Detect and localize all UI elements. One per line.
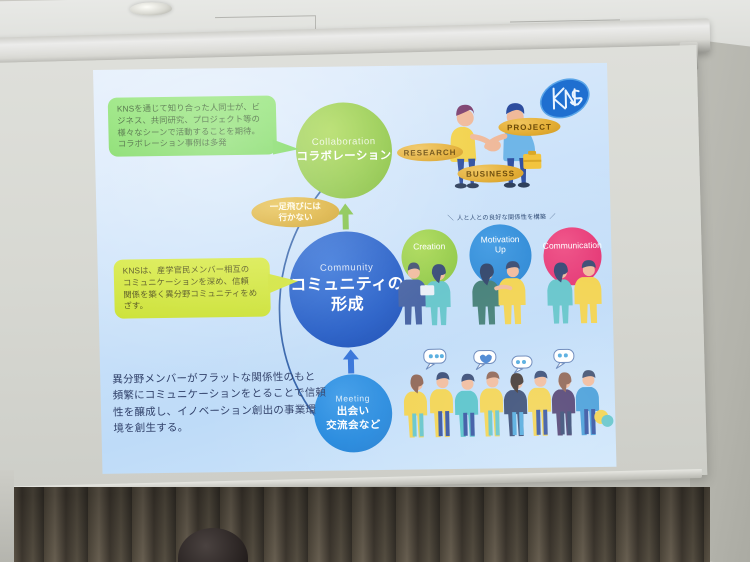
callout-collaboration-line4: コラボレーション事例は多発 [118,137,269,151]
relationship-caption-text: 人と人との良好な関係性を構築 [457,214,547,222]
room-photo-scene: Collaboration コラボレーション Community コミュニティの… [0,0,750,562]
node-community-jp-line1: コミュニティの [290,275,404,297]
node-community-jp-line2: 形成 [331,296,364,316]
caption-slash-left: ＼ [444,215,457,222]
curtain-shadow [0,487,710,562]
node-meeting-en: Meeting [335,394,370,404]
wall-left-strip [0,470,14,562]
presentation-slide: Collaboration コラボレーション Community コミュニティの… [93,63,616,474]
tag-line2: 行かない [278,212,312,223]
illustration-three-benefits: Creation MotivationUp Communication [397,221,610,336]
node-collaboration-en: Collaboration [312,137,376,149]
bottom-description-line4: 境を創生する。 [113,417,331,436]
callout-community-line4: ざす。 [123,299,262,313]
ceiling-light-icon [130,2,172,16]
illustration-handshake: RESEARCH PROJECT BUSINESS [394,85,596,194]
node-meeting-jp-line1: 出会い [337,405,370,419]
callout-community-line3: 関係を築く異分野コミュニティをめ [123,287,262,301]
node-collaboration-jp: コラボレーション [296,150,391,164]
node-meeting-jp-line2: 交流会など [326,419,381,433]
projected-slide-warp: Collaboration コラボレーション Community コミュニティの… [93,63,616,474]
callout-collaboration: KNSを通じて知り合った人同士が、ビ ジネス、共同研究、プロジェクト等の 様々な… [108,95,277,156]
tag-line1: 一足飛びには [270,201,321,212]
ceiling-seam [215,15,315,18]
tag-not-instant: 一足飛びには 行かない [251,197,340,228]
bottom-description-line3: 性を醸成し、イノベーション創出の事業環 [113,401,331,420]
callout-community: KNSは、産学官民メンバー相互の コミュニケーションを深め、信頼 関係を築く異分… [113,258,270,319]
node-community: Community コミュニティの 形成 [288,231,407,349]
caption-slash-right: ／ [546,214,559,221]
arrow-meeting-to-community [340,349,363,373]
bottom-description: 異分野メンバーがフラットな関係性のもと 頻繁にコミュニケーションをとることで信頼… [112,369,332,437]
illustration-crowd [398,345,614,452]
node-community-en: Community [320,263,374,274]
node-collaboration: Collaboration コラボレーション [295,102,393,199]
